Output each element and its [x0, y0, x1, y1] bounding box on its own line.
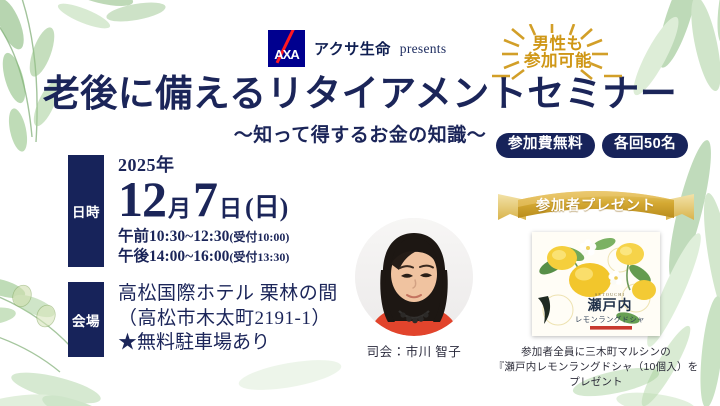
venue-parking-note: ★無料駐車場あり: [118, 331, 338, 356]
presenter-portrait-block: 司会：市川 智子: [352, 218, 476, 360]
lemon-langue-de-chat-box-illustration: SETOUCHI 瀬戸内 レモンラングドシャ: [532, 232, 660, 336]
sunburst-line-1: 男性も: [492, 36, 624, 53]
gift-description: 参加者全員に三木町マルシンの 『瀬戸内レモンラングドシャ（10個入）を プレゼン…: [488, 345, 704, 390]
datetime-day-number: 7: [193, 175, 217, 223]
datetime-block: 日時 2025年 12 月 7 日 (日) 午前10:30~12:30(受付10…: [68, 155, 289, 267]
sunburst-line-2: 参加可能: [492, 53, 624, 70]
gift-note-line-3: プレゼント: [488, 375, 704, 390]
axa-logo-wordmark: AXA: [268, 47, 305, 62]
product-name-text: 瀬戸内: [588, 297, 633, 314]
sunburst-badge: 男性も 参加可能: [492, 24, 624, 86]
datetime-date-line: 12 月 7 日 (日): [118, 175, 289, 223]
datetime-weekday: (日): [244, 196, 288, 221]
product-brand-text: SETOUCHI: [595, 292, 625, 297]
datetime-month-number: 12: [118, 175, 166, 223]
datetime-month-unit: 月: [166, 198, 193, 220]
brand-name: アクサ生命: [314, 38, 391, 59]
pill-fee-free: 参加費無料: [496, 133, 595, 158]
session-afternoon-time: 午後14:00~16:00: [118, 248, 229, 265]
presenter-photo-illustration: [355, 218, 473, 336]
gift-block: 参加者プレゼント: [488, 186, 704, 390]
badge-pill-row: 参加費無料 各回50名: [496, 133, 688, 158]
brand-presents-label: presents: [400, 41, 447, 57]
datetime-session-morning: 午前10:30~12:30(受付10:00): [118, 227, 289, 247]
datetime-tab-label: 日時: [68, 155, 104, 267]
gift-note-line-1: 参加者全員に三木町マルシンの: [488, 345, 704, 360]
presenter-avatar: [355, 218, 473, 336]
venue-name: 高松国際ホテル 栗林の間: [118, 282, 338, 307]
session-morning-reception: (受付10:00): [229, 230, 289, 244]
product-subname-text: レモンラングドシャ: [575, 315, 645, 324]
brand-row: AXA アクサ生命 presents: [268, 30, 446, 67]
gift-ribbon: 参加者プレゼント: [496, 186, 696, 226]
venue-tab-label: 会場: [68, 282, 104, 357]
venue-address: （高松市木太町2191-1）: [118, 307, 338, 332]
session-morning-time: 午前10:30~12:30: [118, 228, 229, 245]
sunburst-badge-text: 男性も 参加可能: [492, 36, 624, 71]
datetime-session-afternoon: 午後14:00~16:00(受付13:30): [118, 247, 289, 267]
venue-body: 高松国際ホテル 栗林の間 （高松市木太町2191-1） ★無料駐車場あり: [104, 282, 338, 357]
pill-capacity: 各回50名: [602, 133, 688, 158]
datetime-day-unit: 日: [217, 198, 244, 220]
presenter-caption: 司会：市川 智子: [352, 341, 476, 360]
axa-logo-icon: AXA: [268, 30, 305, 67]
datetime-body: 2025年 12 月 7 日 (日) 午前10:30~12:30(受付10:00…: [104, 155, 289, 267]
seminar-poster: AXA アクサ生命 presents: [0, 0, 720, 406]
venue-block: 会場 高松国際ホテル 栗林の間 （高松市木太町2191-1） ★無料駐車場あり: [68, 282, 338, 357]
gift-note-line-2: 『瀬戸内レモンラングドシャ（10個入）を: [488, 360, 704, 375]
session-afternoon-reception: (受付13:30): [229, 250, 289, 264]
gift-product-image: SETOUCHI 瀬戸内 レモンラングドシャ: [532, 232, 660, 336]
gift-ribbon-label: 参加者プレゼント: [496, 195, 696, 215]
